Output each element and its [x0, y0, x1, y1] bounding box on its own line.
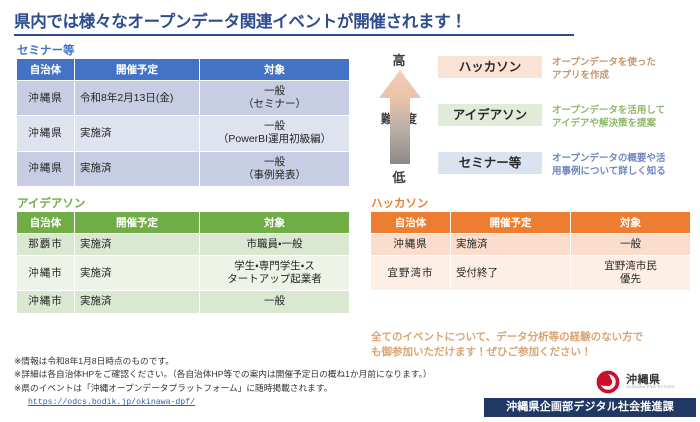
cell-municipality: 沖縄県: [371, 234, 451, 256]
cell-schedule: 実施済: [451, 234, 571, 256]
cell-municipality: 沖縄市: [17, 256, 75, 291]
cell-schedule: 実施済: [75, 116, 200, 151]
column-header-target: 対象: [571, 212, 691, 234]
column-header-municipality: 自治体: [17, 59, 75, 81]
cell-municipality: 宜野湾市: [371, 256, 451, 291]
table-row: 沖縄市 実施済 学生・専門学生・ス タートアップ起業者: [17, 256, 350, 291]
cell-municipality: 沖縄県: [17, 116, 75, 151]
cell-target: 学生・専門学生・ス タートアップ起業者: [200, 256, 350, 291]
hackathon-table: 自治体 開催予定 対象 沖縄県 実施済 一般 宜野湾市 受付終了 宜野湾市民 優…: [370, 211, 691, 291]
column-header-schedule: 開催予定: [451, 212, 571, 234]
difficulty-desc-ideathon: オープンデータを活用して アイデアや解決策を提案: [552, 104, 694, 130]
cell-target: 一般 （事例発表）: [200, 151, 350, 186]
cell-schedule: 実施済: [75, 234, 200, 256]
okinawa-logo-mark-icon: [596, 370, 620, 394]
table-row: 沖縄県 令和8年2月13日(金) 一般 （セミナー）: [17, 81, 350, 116]
cell-schedule: 受付終了: [451, 256, 571, 291]
okinawa-prefecture-logo: 沖縄県 OKINAWA PREFECTURE: [596, 370, 696, 396]
cell-schedule: 実施済: [75, 256, 200, 291]
page-title: 県内では様々なオープンデータ関連イベントが開催されます！: [14, 8, 574, 36]
column-header-schedule: 開催予定: [75, 59, 200, 81]
seminar-table: 自治体 開催予定 対象 沖縄県 令和8年2月13日(金) 一般 （セミナー） 沖…: [16, 58, 350, 187]
table-header-row: 自治体 開催予定 対象: [371, 212, 691, 234]
footnotes: ※情報は令和8年1月8日時点のものです。 ※詳細は各自治体HPをご確認ください。…: [14, 355, 454, 410]
footnote-3: ※県のイベントは「沖縄オープンデータプラットフォーム」に随時掲載されます。: [14, 382, 454, 395]
table-header-row: 自治体 開催予定 対象: [17, 212, 350, 234]
table-row: 那覇市 実施済 市職員・一般: [17, 234, 350, 256]
cell-municipality: 那覇市: [17, 234, 75, 256]
cell-schedule: 実施済: [75, 291, 200, 313]
table-row: 沖縄市 実施済 一般: [17, 291, 350, 313]
table-row: 沖縄県 実施済 一般 （事例発表）: [17, 151, 350, 186]
slide-root: 県内では様々なオープンデータ関連イベントが開催されます！ セミナー等 自治体 開…: [0, 0, 700, 422]
department-bar: 沖縄県企画部デジタル社会推進課: [484, 398, 696, 417]
cell-target: 宜野湾市民 優先: [571, 256, 691, 291]
table-row: 沖縄県 実施済 一般: [371, 234, 691, 256]
ideathon-table: 自治体 開催予定 対象 那覇市 実施済 市職員・一般 沖縄市 実施済 学生・専門…: [16, 211, 350, 314]
cell-target: 一般: [200, 291, 350, 313]
table-row: 宜野湾市 受付終了 宜野湾市民 優先: [371, 256, 691, 291]
column-header-target: 対象: [200, 59, 350, 81]
logo-subtitle: OKINAWA PREFECTURE: [626, 385, 675, 389]
cell-target: 一般 （PowerBI運用初級編）: [200, 116, 350, 151]
footnote-2: ※詳細は各自治体HPをご確認ください。（各自治体HP等での案内は開催予定日の概ね…: [14, 368, 454, 381]
footnote-1: ※情報は令和8年1月8日時点のものです。: [14, 355, 454, 368]
section-caption-seminar: セミナー等: [17, 42, 75, 58]
difficulty-low-label: 低: [382, 167, 416, 186]
cell-schedule: 実施済: [75, 151, 200, 186]
cell-target: 一般: [571, 234, 691, 256]
cell-municipality: 沖縄県: [17, 151, 75, 186]
difficulty-desc-seminar: オープンデータの概要や活 用事例について詳しく知る: [552, 152, 694, 178]
table-row: 沖縄県 実施済 一般 （PowerBI運用初級編）: [17, 116, 350, 151]
cell-target: 一般 （セミナー）: [200, 81, 350, 116]
section-caption-hackathon: ハッカソン: [371, 195, 429, 211]
column-header-municipality: 自治体: [17, 212, 75, 234]
section-caption-ideathon: アイデアソン: [17, 195, 85, 211]
up-arrow-icon: [378, 68, 422, 166]
cell-municipality: 沖縄市: [17, 291, 75, 313]
difficulty-diagram: 高 低 難易度 ハッカソン オープンデータを使った アプリを作成 アイデアソン …: [366, 46, 696, 191]
cell-schedule: 令和8年2月13日(金): [75, 81, 200, 116]
table-header-row: 自治体 開催予定 対象: [17, 59, 350, 81]
difficulty-level-ideathon: アイデアソン: [438, 104, 542, 126]
difficulty-level-hackathon: ハッカソン: [438, 56, 542, 78]
platform-link[interactable]: https://odcs.bodik.jp/okinawa-dpf/: [28, 398, 195, 407]
cell-target: 市職員・一般: [200, 234, 350, 256]
cell-municipality: 沖縄県: [17, 81, 75, 116]
difficulty-high-label: 高: [382, 50, 416, 69]
column-header-municipality: 自治体: [371, 212, 451, 234]
difficulty-desc-hackathon: オープンデータを使った アプリを作成: [552, 56, 694, 82]
column-header-target: 対象: [200, 212, 350, 234]
column-header-schedule: 開催予定: [75, 212, 200, 234]
difficulty-level-seminar: セミナー等: [438, 152, 542, 174]
